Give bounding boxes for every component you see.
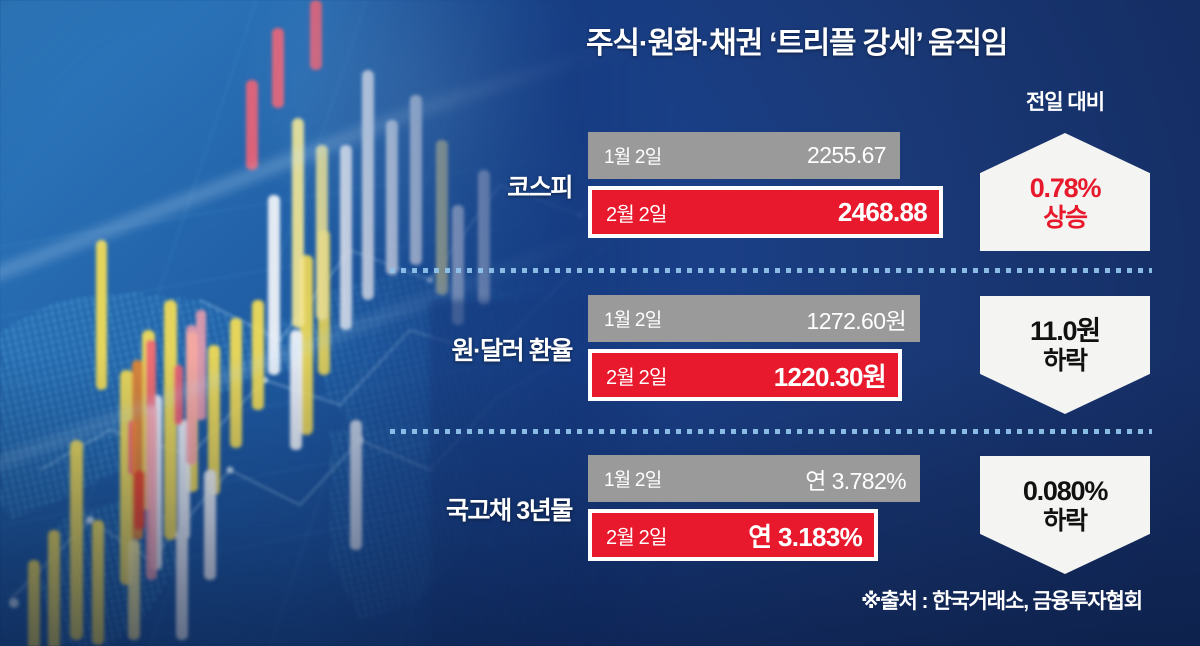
previous-date-usdkrw: 1월 2일 [604,305,661,332]
page-title: 주식·원화·채권 ‘트리플 강세’ 움직임 [586,18,1007,62]
row-label-usdkrw: 원·달러 환율 [300,331,572,367]
change-direction-treasury3y: 하락 [1043,507,1087,536]
current-date-kospi: 2월 2일 [606,198,667,227]
previous-bar-usdkrw: 1월 2일 1272.60원 [588,295,920,342]
change-direction-kospi: 상승 [1043,204,1087,233]
current-value-kospi: 2468.88 [838,197,927,228]
source-note: ※출처 : 한국거래소, 금융투자협회 [861,585,1142,615]
row-label-kospi: 코스피 [300,168,572,204]
current-bar-kospi: 2월 2일 2468.88 [588,186,943,238]
previous-value-treasury3y: 연 3.782% [805,462,906,496]
change-value-kospi: 0.78% [1030,173,1101,204]
previous-value-usdkrw: 1272.60원 [807,302,907,336]
current-value-usdkrw: 1220.30원 [774,357,886,394]
row-divider [390,429,1152,434]
current-value-treasury3y: 연 3.183% [748,517,862,554]
current-date-treasury3y: 2월 2일 [606,521,667,550]
previous-date-kospi: 1월 2일 [604,142,661,169]
row-label-treasury3y: 국고채 3년물 [300,491,572,527]
previous-date-treasury3y: 1월 2일 [604,465,661,492]
infographic-canvas: 주식·원화·채권 ‘트리플 강세’ 움직임 전일 대비 코스피 1월 2일 22… [0,0,1200,646]
previous-bar-treasury3y: 1월 2일 연 3.782% [588,455,920,502]
current-date-usdkrw: 2월 2일 [606,361,667,390]
delta-column-header: 전일 대비 [980,86,1150,116]
row-divider [390,268,1152,273]
change-direction-usdkrw: 하락 [1043,347,1087,376]
current-bar-usdkrw: 2월 2일 1220.30원 [588,349,902,401]
current-bar-treasury3y: 2월 2일 연 3.183% [588,509,878,561]
change-value-treasury3y: 0.080% [1023,476,1107,507]
previous-bar-kospi: 1월 2일 2255.67 [588,132,900,179]
previous-value-kospi: 2255.67 [807,142,886,169]
change-value-usdkrw: 11.0원 [1030,316,1100,347]
